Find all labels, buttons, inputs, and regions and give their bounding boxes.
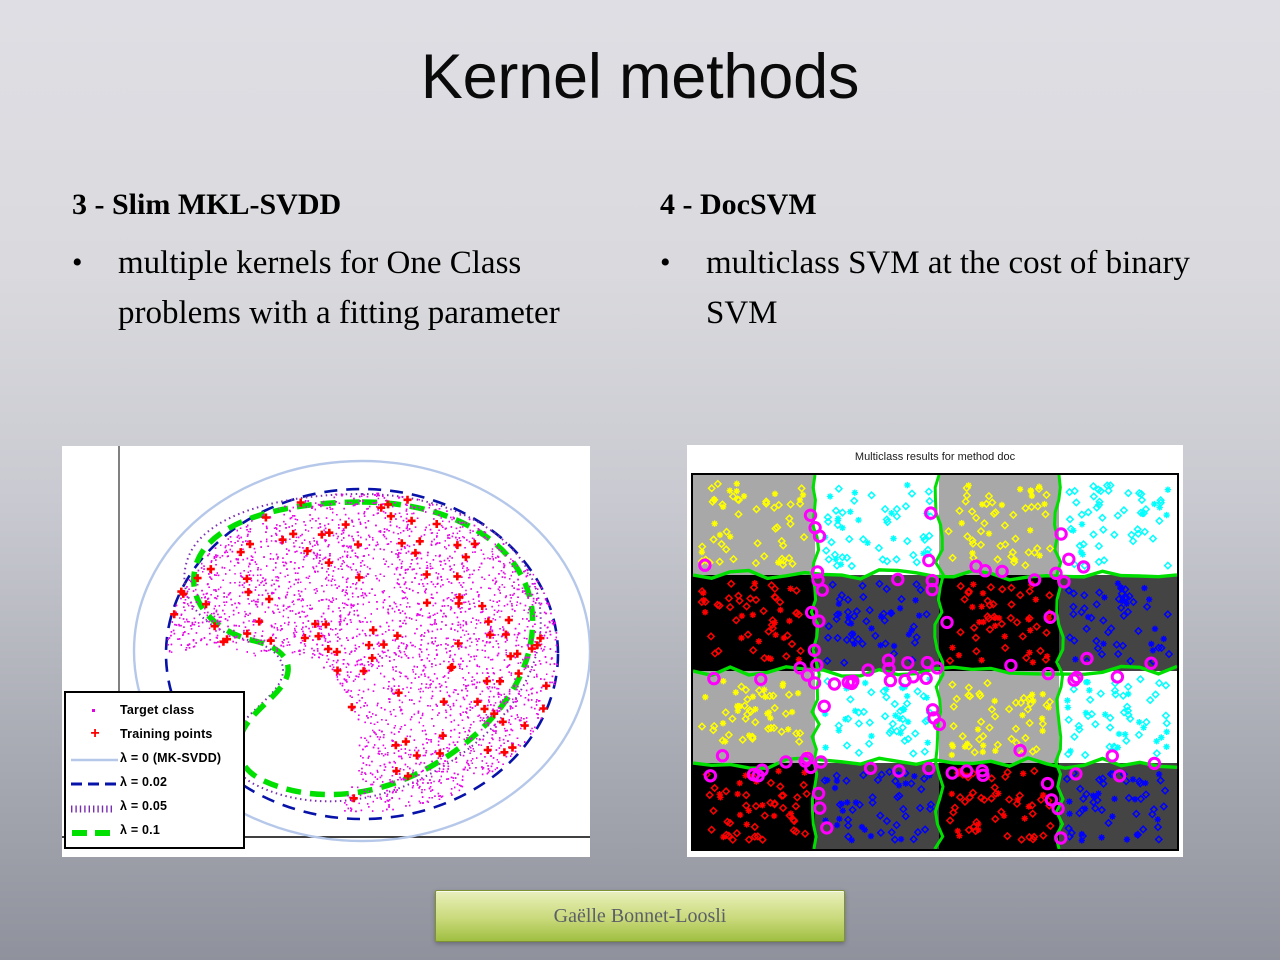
bullet-item-left: • multiple kernels for One Class problem… [72,238,612,338]
page-title: Kernel methods [0,42,1280,112]
line-solid-icon [70,748,120,768]
legend-label: λ = 0.1 [120,823,160,837]
legend-label: Target class [120,703,194,717]
column-heading-right: 4 - DocSVM [660,186,1220,224]
figure-mkl-svdd: Target class + Training points λ = 0 (MK… [62,446,590,857]
line-thick-dash-icon [70,820,120,840]
bullet-text-right: multiclass SVM at the cost of binary SVM [706,238,1196,338]
training-point-plus-icon: + [70,724,120,744]
legend-row: λ = 0.05 [70,794,239,818]
legend-label: Training points [120,727,213,741]
bullet-text-left: multiple kernels for One Class problems … [118,238,568,338]
target-class-dot-icon [70,700,120,720]
legend-row: λ = 0.1 [70,818,239,842]
bullet-marker-icon: • [660,238,706,288]
bullet-item-right: • multiclass SVM at the cost of binary S… [660,238,1220,338]
column-docsvm: 4 - DocSVM • multiclass SVM at the cost … [660,186,1220,338]
column-heading-left: 3 - Slim MKL-SVDD [72,186,612,224]
figure-legend: Target class + Training points λ = 0 (MK… [64,691,245,849]
line-dashed-icon [70,772,120,792]
legend-label: λ = 0 (MK-SVDD) [120,751,221,765]
author-button[interactable]: Gaëlle Bonnet-Loosli [435,890,845,942]
legend-row: λ = 0.02 [70,770,239,794]
column-slim-mkl-svdd: 3 - Slim MKL-SVDD • multiple kernels for… [72,186,612,338]
legend-row: + Training points [70,722,239,746]
legend-row: λ = 0 (MK-SVDD) [70,746,239,770]
legend-row: Target class [70,698,239,722]
legend-label: λ = 0.05 [120,799,167,813]
bullet-marker-icon: • [72,238,118,288]
figure-docsvm: Multiclass results for method doc [687,445,1183,857]
line-dotted-icon [70,796,120,816]
legend-label: λ = 0.02 [120,775,167,789]
docsvm-plot [691,473,1179,851]
figure-docsvm-title: Multiclass results for method doc [687,451,1183,463]
author-label: Gaëlle Bonnet-Loosli [554,905,727,928]
